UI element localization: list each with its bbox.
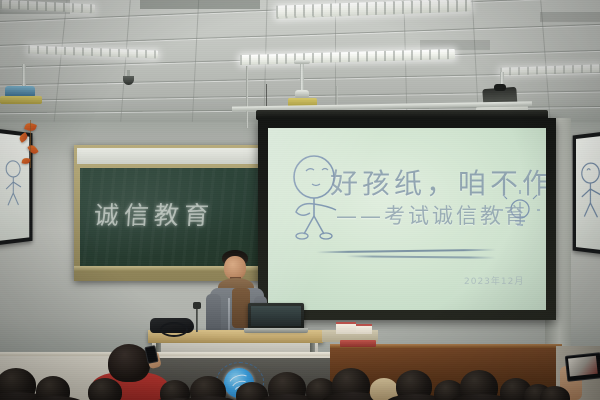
- projector-right-lens: [494, 84, 506, 91]
- underline-swoosh-2: [346, 255, 496, 259]
- right-wall-display-content: [576, 135, 600, 251]
- laptop-base[interactable]: [244, 328, 308, 333]
- projector-pole-left: [22, 64, 26, 88]
- stage-front-panel-edge: [0, 352, 352, 356]
- paper-stack: [336, 322, 356, 334]
- slide-date: 2023年12月: [464, 274, 524, 287]
- projector-pole-center: [300, 62, 304, 92]
- projection-screen-surface: 好孩纸，咱不作弊 ——考试诚信教育 2023年12月: [268, 128, 546, 310]
- ceiling-light-3: [28, 46, 158, 59]
- ceiling-light-2: [240, 49, 455, 65]
- laptop-lid[interactable]: [248, 303, 304, 329]
- ceiling-light-1: [276, 0, 471, 19]
- left-wall-display-content: [0, 133, 29, 241]
- classroom-scene: 诚信教育: [0, 0, 600, 400]
- microphone-stem: [196, 306, 198, 332]
- bag-strap: [160, 322, 188, 337]
- underline-swoosh-1: [316, 249, 496, 253]
- screen-support-rod-left: [246, 66, 248, 128]
- blackboard-upper-white-strip: [77, 148, 263, 164]
- paper-stack-2: [356, 324, 372, 334]
- projection-screen[interactable]: 好孩纸，咱不作弊 ——考试诚信教育 2023年12月: [258, 118, 556, 320]
- audience-head-4: [88, 378, 122, 400]
- right-wall-display[interactable]: [573, 130, 600, 255]
- slide-title: 好孩纸，咱不作弊: [330, 162, 546, 202]
- person-phone-right-phone[interactable]: [565, 352, 600, 382]
- phone-screen: [568, 356, 598, 377]
- projector-pole-cap: [294, 60, 310, 64]
- projector-left-plate: [0, 96, 42, 104]
- stick-figure-doodle-right: [576, 135, 600, 251]
- stick-figure-doodle-left: [0, 133, 29, 241]
- presenter-zipper: [228, 298, 230, 332]
- microphone-head: [193, 302, 201, 309]
- ledge-red-item: [340, 340, 376, 347]
- leaf-decor-stem: [30, 120, 31, 168]
- blackboard-chalk-text: 诚信教育: [93, 196, 216, 232]
- slide-subtitle: ——考试诚信教育: [336, 200, 528, 230]
- ceiling-light-5: [500, 64, 600, 75]
- person-red-jacket-head: [108, 344, 150, 382]
- audience-head-5: [160, 380, 190, 400]
- laptop-screen: [251, 306, 301, 326]
- presenter-arm-left: [206, 294, 221, 334]
